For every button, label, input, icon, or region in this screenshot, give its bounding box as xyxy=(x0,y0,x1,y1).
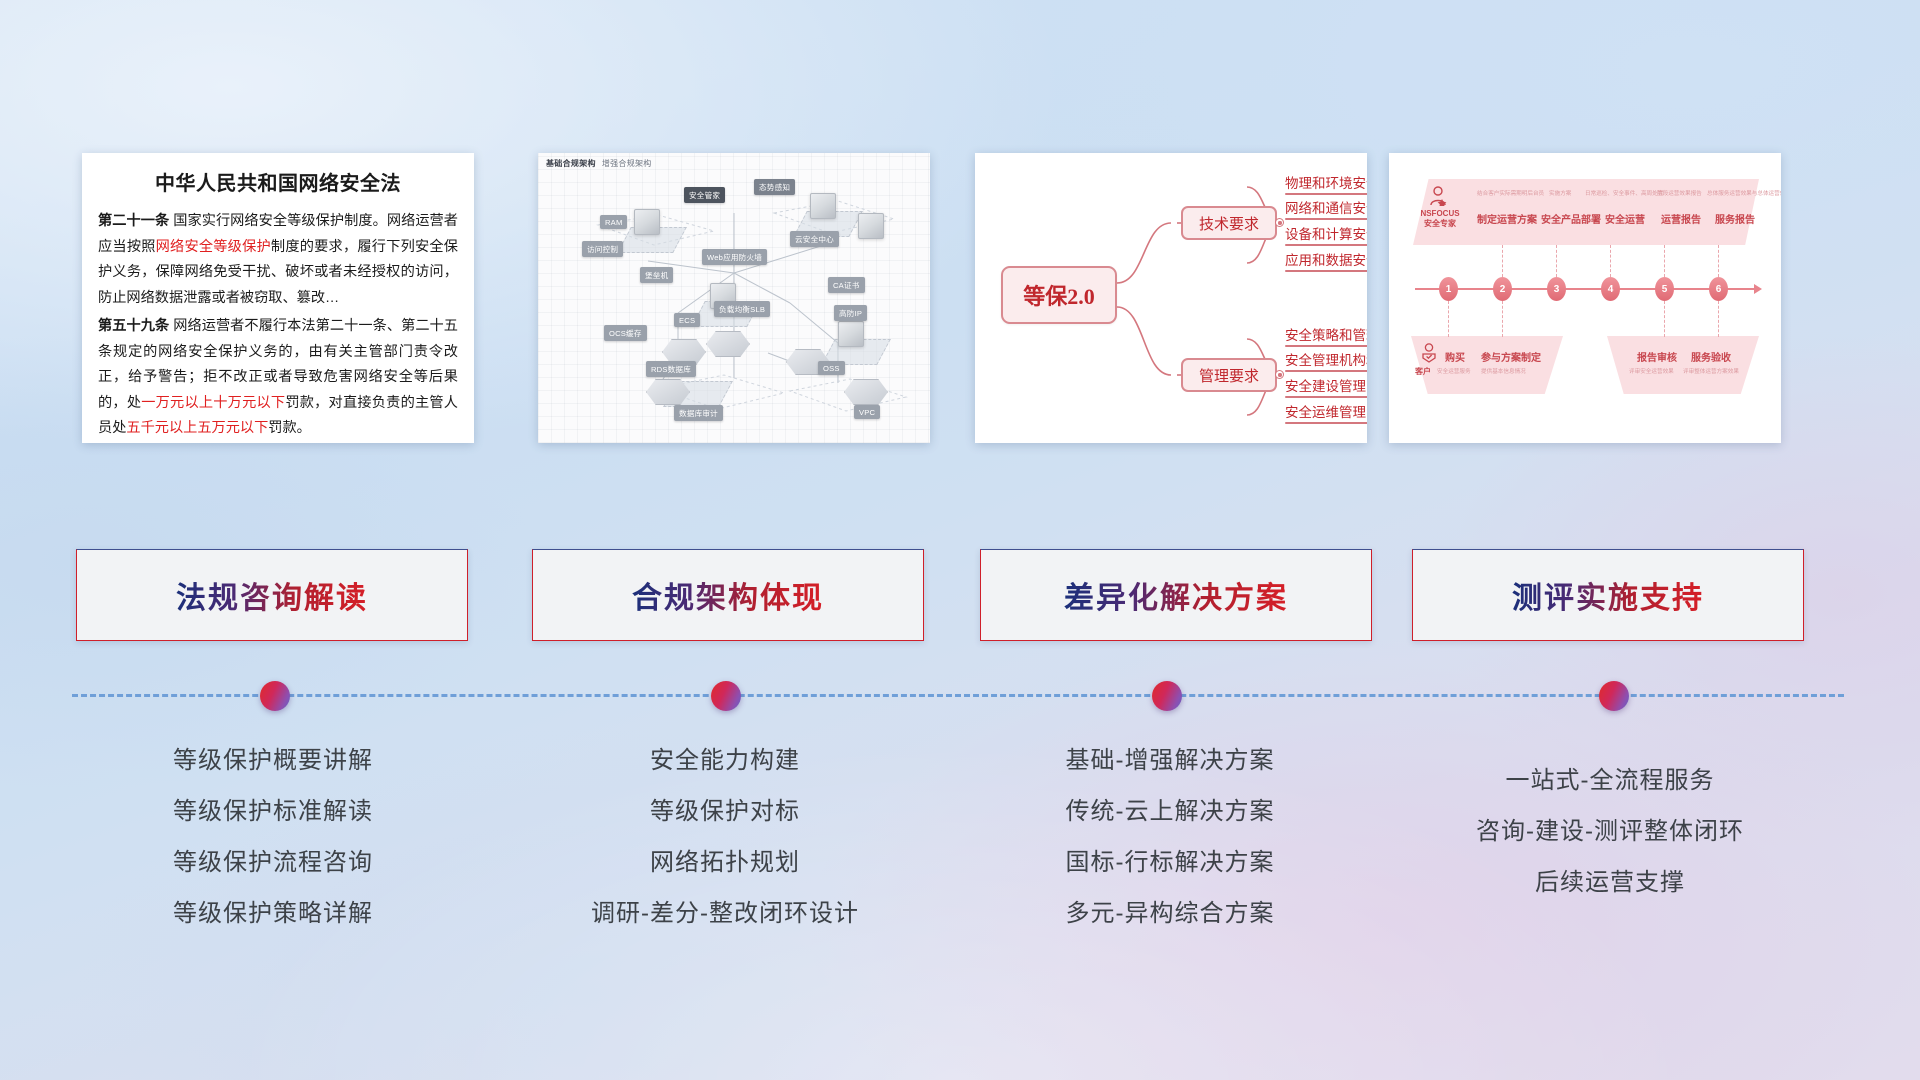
nsfocus-bottom-right-1-small: 评审整体运营方案效果 xyxy=(1683,367,1739,375)
nsfocus-dash-bottom-6 xyxy=(1718,301,1719,337)
list-item: 后续运营支撑 xyxy=(1395,857,1825,908)
mindmap-branch-technical[interactable]: 技术要求 xyxy=(1181,206,1277,240)
list-item: 基础-增强解决方案 xyxy=(955,735,1385,786)
law-title: 中华人民共和国网络安全法 xyxy=(98,167,458,196)
timeline-marker-3[interactable] xyxy=(1152,681,1182,711)
list-item: 网络拓扑规划 xyxy=(510,837,940,888)
nsfocus-bottom-left-0-label: 购买 xyxy=(1445,349,1465,364)
nsfocus-bottom-left-1-label: 参与方案制定 xyxy=(1481,349,1541,364)
timeline-dashed-line xyxy=(72,694,1844,697)
feature-list-3: 基础-增强解决方案 传统-云上解决方案 国标-行标解决方案 多元-异构综合方案 xyxy=(955,735,1385,939)
preview-card-row: 中华人民共和国网络安全法 第二十一条 国家实行网络安全等级保护制度。网络运营者应… xyxy=(0,153,1920,443)
feature-list-1: 等级保护概要讲解 等级保护标准解读 等级保护流程咨询 等级保护策略详解 xyxy=(58,735,488,939)
mindmap-branch-management[interactable]: 管理要求 xyxy=(1181,358,1277,392)
section-title-label-2: 合规架构体现 xyxy=(632,573,824,617)
section-title-label-1: 法规咨询解读 xyxy=(176,573,368,617)
nsfocus-logo: NSFOCUS 安全专家 xyxy=(1415,209,1465,229)
feature-list-row: 等级保护概要讲解 等级保护标准解读 等级保护流程咨询 等级保护策略详解 安全能力… xyxy=(0,735,1920,1025)
list-item: 安全能力构建 xyxy=(510,735,940,786)
diagram-label-14: VPC xyxy=(854,405,880,419)
diagram-label-0: 安全管家 xyxy=(684,187,725,203)
diagram-node-cube-5 xyxy=(838,321,864,347)
list-item: 等级保护标准解读 xyxy=(58,786,488,837)
section-title-label-4: 测评实施支持 xyxy=(1512,573,1704,617)
section-title-label-3: 差异化解决方案 xyxy=(1064,573,1288,617)
law-article-59-highlight-1: 一万元以上十万元以下 xyxy=(141,395,285,411)
nsfocus-timeline-node-6[interactable]: 6 xyxy=(1709,277,1728,301)
diagram-label-7: ECS xyxy=(674,313,700,327)
nsfocus-dash-top-4 xyxy=(1610,245,1611,277)
nsfocus-dash-top-3 xyxy=(1556,245,1557,277)
mindmap-leaf-m-1: 安全管理机构和人员 xyxy=(1285,349,1367,372)
customer-person-icon xyxy=(1421,343,1437,363)
section-title-box-4[interactable]: 测评实施支持 xyxy=(1412,549,1804,641)
nsfocus-logo-line2: 安全专家 xyxy=(1415,219,1465,229)
diagram-node-cube-3 xyxy=(858,213,884,239)
nsfocus-step-0-label: 制定运营方案 xyxy=(1477,211,1537,226)
feature-list-2: 安全能力构建 等级保护对标 网络拓扑规划 调研-差分-整改闭环设计 xyxy=(510,735,940,939)
diagram-label-15: 数据库审计 xyxy=(674,405,723,421)
timeline-marker-2[interactable] xyxy=(711,681,741,711)
mindmap-leaf-t-2: 设备和计算安全 xyxy=(1285,223,1367,246)
mindmap-leaf-t-1: 网络和通信安全 xyxy=(1285,197,1367,220)
mindmap-leaf-m-0: 安全策略和管理制度 xyxy=(1285,324,1367,347)
diagram-label-6: 堡垒机 xyxy=(640,267,673,283)
nsfocus-dash-top-5 xyxy=(1664,245,1665,277)
diagram-label-5: 访问控制 xyxy=(582,241,623,257)
nsfocus-step-4-label: 服务报告 xyxy=(1715,211,1755,226)
preview-card-nsfocus-timeline[interactable]: NSFOCUS 安全专家 结合客户实际需期明后台员 制定运营方案 实施方案 安全… xyxy=(1389,153,1781,443)
nsfocus-step-4-small: 总体服务运营效果与总体运营效果 xyxy=(1707,189,1781,197)
list-item: 多元-异构综合方案 xyxy=(955,888,1385,939)
list-item: 传统-云上解决方案 xyxy=(955,786,1385,837)
diagram-label-8: 负载均衡SLB xyxy=(714,301,770,317)
nsfocus-step-1-label: 安全产品部署 xyxy=(1541,211,1601,226)
timeline-marker-4[interactable] xyxy=(1599,681,1629,711)
diagram-label-12: RDS数据库 xyxy=(646,361,696,377)
diagram-node-cube-2 xyxy=(810,193,836,219)
preview-card-law[interactable]: 中华人民共和国网络安全法 第二十一条 国家实行网络安全等级保护制度。网络运营者应… xyxy=(82,153,474,443)
nsfocus-dash-bottom-2 xyxy=(1502,301,1503,337)
nsfocus-step-3-label: 运营报告 xyxy=(1661,211,1701,226)
nsfocus-bottom-right-0-label: 报告审核 xyxy=(1637,349,1677,364)
nsfocus-logo-line1: NSFOCUS xyxy=(1415,209,1465,219)
diagram-label-10: 高防IP xyxy=(834,305,867,321)
mindmap-leaf-m-3: 安全运维管理 xyxy=(1285,401,1366,424)
nsfocus-timeline-node-2[interactable]: 2 xyxy=(1493,277,1512,301)
diagram-label-2: 云安全中心 xyxy=(790,231,839,247)
law-article-59-label: 第五十九条 xyxy=(98,318,169,334)
nsfocus-step-3-small: 阶段运营效果报告 xyxy=(1657,189,1702,197)
law-article-21: 第二十一条 国家实行网络安全等级保护制度。网络运营者应当按照网络安全等级保护制度… xyxy=(98,209,458,311)
section-title-box-3[interactable]: 差异化解决方案 xyxy=(980,549,1372,641)
nsfocus-timeline-axis xyxy=(1415,288,1755,290)
mindmap-connector-dot-technical xyxy=(1275,218,1284,227)
section-title-row: 法规咨询解读 合规架构体现 差异化解决方案 测评实施支持 xyxy=(0,549,1920,641)
mindmap-root-node[interactable]: 等保2.0 xyxy=(1001,266,1117,324)
law-article-59-text-3: 罚款。 xyxy=(268,420,311,436)
nsfocus-dash-bottom-5 xyxy=(1664,301,1665,337)
nsfocus-dash-top-6 xyxy=(1718,245,1719,277)
list-item: 等级保护对标 xyxy=(510,786,940,837)
nsfocus-dash-bottom-1 xyxy=(1448,301,1449,337)
nsfocus-bottom-right-1-label: 服务验收 xyxy=(1691,349,1731,364)
list-item: 国标-行标解决方案 xyxy=(955,837,1385,888)
preview-card-mindmap[interactable]: 等保2.0 技术要求 管理要求 物理和环境安全 网络和通信安全 设备和计算安全 … xyxy=(975,153,1367,443)
nsfocus-step-2-label: 安全运营 xyxy=(1605,211,1645,226)
section-title-box-1[interactable]: 法规咨询解读 xyxy=(76,549,468,641)
law-article-21-highlight: 网络安全等级保护 xyxy=(156,239,271,255)
nsfocus-bottom-right-0-small: 评审安全运营效果 xyxy=(1629,367,1674,375)
diagram-label-3: Web应用防火墙 xyxy=(702,249,767,265)
law-article-59: 第五十九条 网络运营者不履行本法第二十一条、第二十五条规定的网络安全保护义务的，… xyxy=(98,314,458,442)
preview-card-architecture[interactable]: 基础合规架构增强合规架构 xyxy=(538,153,930,443)
mindmap-leaf-t-0: 物理和环境安全 xyxy=(1285,172,1367,195)
diagram-label-4: RAM xyxy=(600,215,627,229)
list-item: 调研-差分-整改闭环设计 xyxy=(510,888,940,939)
nsfocus-bottom-right-band xyxy=(1607,336,1759,394)
nsfocus-bottom-left-1-small: 提供基本信息情况 xyxy=(1481,367,1526,375)
nsfocus-timeline-node-4[interactable]: 4 xyxy=(1601,277,1620,301)
list-item: 等级保护流程咨询 xyxy=(58,837,488,888)
architecture-diagram: 基础合规架构增强合规架构 xyxy=(538,153,930,443)
slide-stage: 中华人民共和国网络安全法 第二十一条 国家实行网络安全等级保护制度。网络运营者应… xyxy=(0,0,1920,1080)
diagram-label-11: OSS xyxy=(818,361,845,375)
nsfocus-timeline-node-5[interactable]: 5 xyxy=(1655,277,1674,301)
expert-person-icon xyxy=(1429,186,1447,206)
nsfocus-timeline-node-1[interactable]: 1 xyxy=(1439,277,1458,301)
mindmap-leaf-t-3: 应用和数据安全 xyxy=(1285,249,1367,272)
nsfocus-step-2-small: 日常巡检、安全事件、高周处置 xyxy=(1585,189,1663,197)
diagram-node-cube-1 xyxy=(634,209,660,235)
mindmap-diagram: 等保2.0 技术要求 管理要求 物理和环境安全 网络和通信安全 设备和计算安全 … xyxy=(975,153,1367,443)
nsfocus-dash-top-2 xyxy=(1502,245,1503,277)
law-document: 中华人民共和国网络安全法 第二十一条 国家实行网络安全等级保护制度。网络运营者应… xyxy=(82,153,474,443)
timeline-marker-1[interactable] xyxy=(260,681,290,711)
nsfocus-bottom-left-0-small: 安全运营服务 xyxy=(1437,367,1471,375)
list-item: 一站式-全流程服务 xyxy=(1395,755,1825,806)
feature-list-4: 一站式-全流程服务 咨询-建设-测评整体闭环 后续运营支撑 xyxy=(1395,735,1825,908)
list-item: 等级保护概要讲解 xyxy=(58,735,488,786)
law-article-21-label: 第二十一条 xyxy=(98,213,169,229)
nsfocus-step-0-small: 结合客户实际需期明后台员 xyxy=(1477,189,1544,197)
nsfocus-customer-label: 客户 xyxy=(1415,366,1431,377)
section-title-box-2[interactable]: 合规架构体现 xyxy=(532,549,924,641)
diagram-label-1: 态势感知 xyxy=(754,179,795,195)
diagram-label-9: CA证书 xyxy=(828,277,865,293)
nsfocus-timeline-node-3[interactable]: 3 xyxy=(1547,277,1566,301)
law-article-59-highlight-2: 五千元以上五万元以下 xyxy=(126,420,268,436)
diagram-label-13: OCS缓存 xyxy=(604,325,647,341)
mindmap-connector-dot-management xyxy=(1275,370,1284,379)
timeline xyxy=(72,694,1844,698)
list-item: 咨询-建设-测评整体闭环 xyxy=(1395,806,1825,857)
nsfocus-diagram: NSFOCUS 安全专家 结合客户实际需期明后台员 制定运营方案 实施方案 安全… xyxy=(1389,153,1781,443)
list-item: 等级保护策略详解 xyxy=(58,888,488,939)
mindmap-leaf-m-2: 安全建设管理 xyxy=(1285,375,1366,398)
nsfocus-step-1-small: 实施方案 xyxy=(1549,189,1571,197)
